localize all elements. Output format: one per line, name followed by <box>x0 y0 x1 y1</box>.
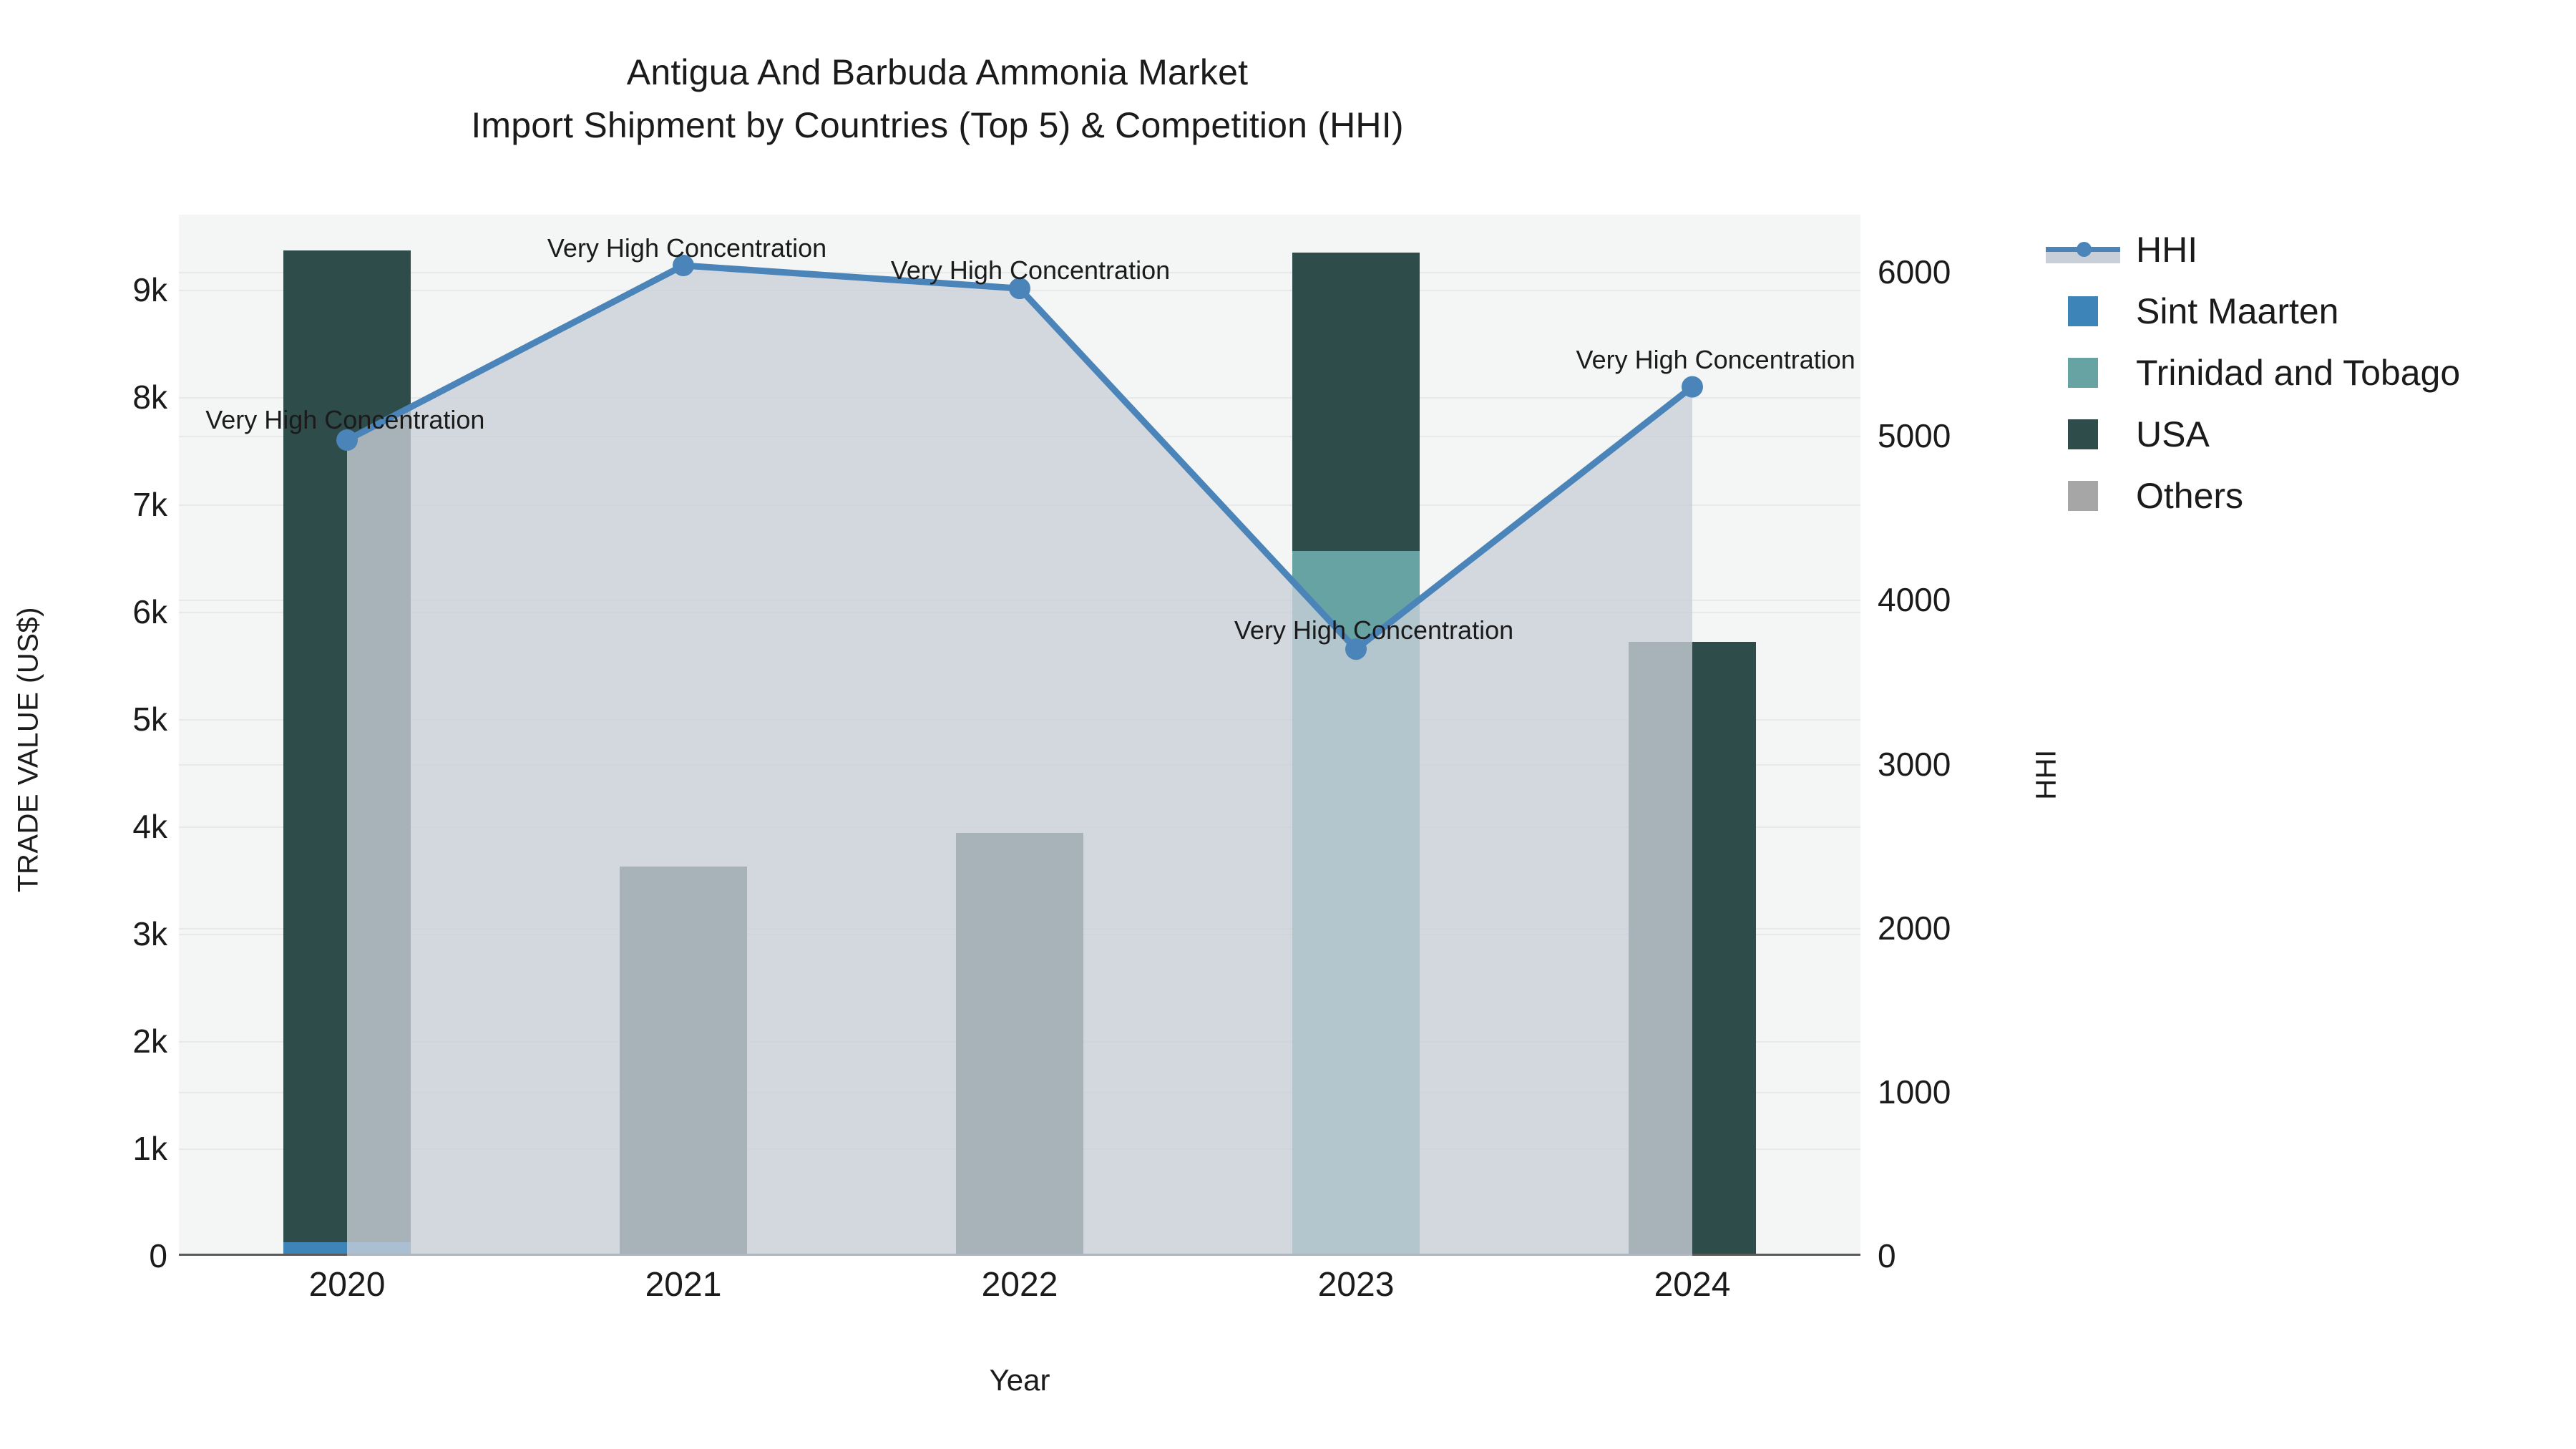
legend-item[interactable]: Sint Maarten <box>2043 291 2460 332</box>
bar-segment[interactable] <box>956 833 1084 1256</box>
legend-item-label: Trinidad and Tobago <box>2136 352 2460 394</box>
y-axis-right-tick-label: 0 <box>1878 1236 1896 1275</box>
legend-item[interactable]: USA <box>2043 414 2460 455</box>
gridline <box>179 397 1860 399</box>
bar-segment[interactable] <box>1292 551 1420 1257</box>
legend-swatch-key <box>2043 481 2123 511</box>
y-axis-right-tick-label: 6000 <box>1878 253 1951 291</box>
y-axis-left-tick-label: 2k <box>132 1022 167 1060</box>
x-axis-tick-label: 2023 <box>1318 1265 1395 1304</box>
legend-item[interactable]: Trinidad and Tobago <box>2043 352 2460 394</box>
concentration-annotation: Very High Concentration <box>891 255 1170 286</box>
y-axis-right-tick-label: 1000 <box>1878 1073 1951 1111</box>
legend-color-swatch <box>2068 481 2098 511</box>
chart-root: Antigua And Barbuda Ammonia Market Impor… <box>0 0 2576 1449</box>
x-axis-baseline <box>179 1254 1860 1256</box>
legend-color-swatch <box>2068 419 2098 449</box>
concentration-annotation: Very High Concentration <box>1576 345 1855 375</box>
y-axis-left-tick-label: 3k <box>132 914 167 953</box>
bar-segment[interactable] <box>620 867 748 1257</box>
y-axis-left-tick-label: 4k <box>132 807 167 846</box>
x-axis-tick-label: 2020 <box>309 1265 386 1304</box>
concentration-annotation: Very High Concentration <box>205 405 484 435</box>
legend-marker-dot-icon <box>2077 242 2092 257</box>
gridline <box>179 504 1860 506</box>
legend-color-swatch <box>2068 358 2098 388</box>
chart-title-line-2: Import Shipment by Countries (Top 5) & C… <box>0 104 1875 146</box>
concentration-annotation: Very High Concentration <box>547 233 826 263</box>
legend-swatch-key <box>2043 296 2123 326</box>
legend-item-label: HHI <box>2136 229 2197 270</box>
chart-title-line-1: Antigua And Barbuda Ammonia Market <box>0 52 1875 93</box>
bar-segment[interactable] <box>283 250 411 1242</box>
y-axis-left-tick-label: 9k <box>132 270 167 309</box>
y-axis-left-tick-label: 5k <box>132 700 167 738</box>
gridline <box>179 290 1860 291</box>
y-axis-right-tick-label: 5000 <box>1878 416 1951 455</box>
chart-legend: HHISint MaartenTrinidad and TobagoUSAOth… <box>2043 229 2460 517</box>
y-axis-right-tick-label: 3000 <box>1878 745 1951 784</box>
y-axis-left-tick-label: 7k <box>132 485 167 524</box>
y-axis-left-tick-label: 8k <box>132 378 167 416</box>
gridline-secondary <box>179 764 1860 766</box>
chart-title: Antigua And Barbuda Ammonia Market Impor… <box>0 52 1875 146</box>
y-axis-right-title: HHI <box>2031 689 2063 861</box>
y-axis-right-tick-label: 4000 <box>1878 580 1951 619</box>
legend-item-label: Others <box>2136 475 2243 517</box>
legend-line-key-icon <box>2043 235 2123 265</box>
x-axis-title: Year <box>179 1363 1860 1397</box>
gridline-secondary <box>179 436 1860 437</box>
y-axis-left-tick-label: 1k <box>132 1129 167 1168</box>
legend-swatch-key <box>2043 419 2123 449</box>
concentration-annotation: Very High Concentration <box>1234 615 1513 645</box>
bar-segment[interactable] <box>1629 642 1757 1256</box>
x-axis-tick-label: 2021 <box>645 1265 722 1304</box>
legend-item[interactable]: HHI <box>2043 229 2460 270</box>
gridline-secondary <box>179 600 1860 601</box>
x-axis-tick-label: 2024 <box>1654 1265 1731 1304</box>
y-axis-right-tick-label: 2000 <box>1878 909 1951 947</box>
legend-item-label: USA <box>2136 414 2210 455</box>
legend-item-label: Sint Maarten <box>2136 291 2338 332</box>
y-axis-left-tick-label: 0 <box>149 1236 167 1275</box>
gridline <box>179 719 1860 721</box>
legend-swatch-key <box>2043 358 2123 388</box>
gridline <box>179 612 1860 613</box>
gridline <box>179 826 1860 828</box>
bar-segment[interactable] <box>1292 253 1420 551</box>
x-axis-tick-label: 2022 <box>982 1265 1058 1304</box>
legend-color-swatch <box>2068 296 2098 326</box>
y-axis-left-title: TRADE VALUE (US$) <box>13 528 45 972</box>
legend-item[interactable]: Others <box>2043 475 2460 517</box>
y-axis-left-tick-label: 6k <box>132 592 167 631</box>
